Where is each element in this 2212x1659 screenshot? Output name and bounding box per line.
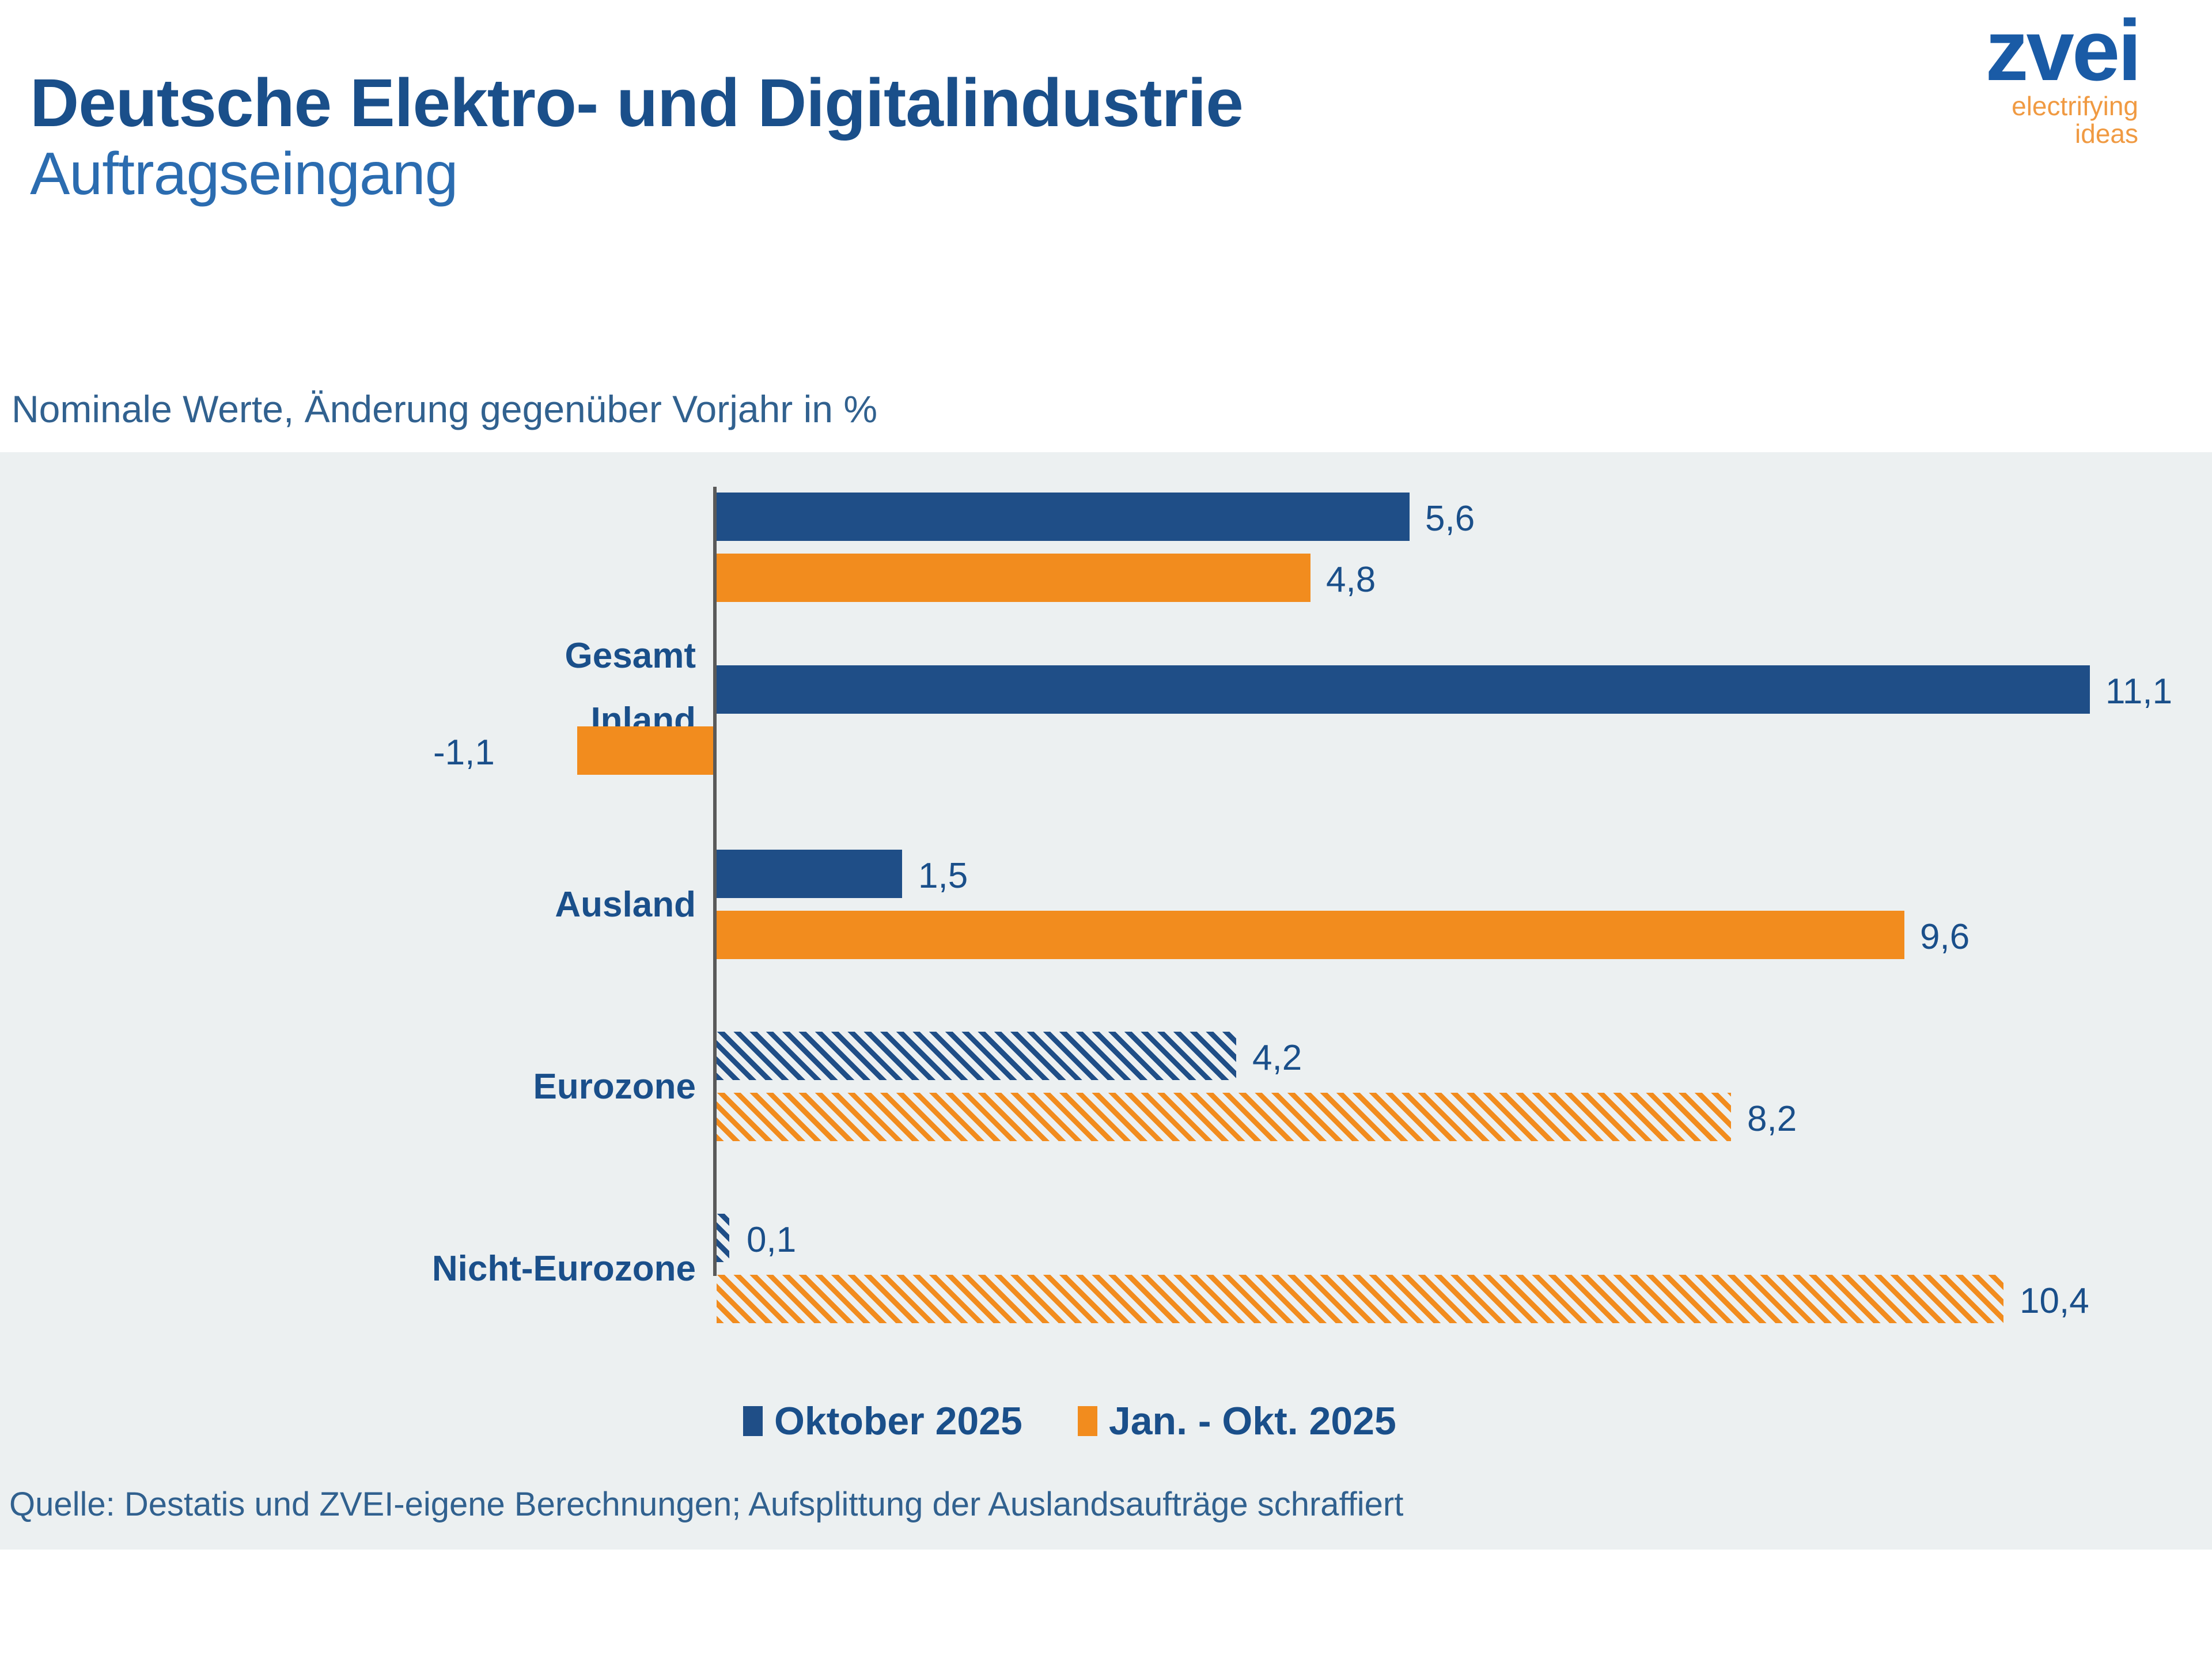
chart-panel: Gesamt 5,6 4,8 Inland 11,1 -1,1 Ausland … bbox=[0, 452, 2212, 1550]
zvei-logo: zvei electrifying ideas bbox=[1878, 10, 2143, 148]
bar-ausland-jan-okt bbox=[717, 911, 1904, 959]
bar-gesamt-oktober bbox=[717, 493, 1410, 541]
value-label-eurozone-jan-okt: 8,2 bbox=[1747, 1099, 1797, 1139]
value-label-inland-jan-okt: -1,1 bbox=[433, 732, 495, 773]
category-label-gesamt: Gesamt bbox=[565, 635, 696, 676]
logo-claim: electrifying ideas bbox=[1878, 92, 2143, 148]
bar-eurozone-oktober bbox=[717, 1032, 1236, 1080]
page-subtitle-heading: Auftragseingang bbox=[30, 141, 1243, 207]
legend-label-jan-okt: Jan. - Okt. 2025 bbox=[1109, 1399, 1396, 1444]
bar-ausland-oktober bbox=[717, 850, 902, 898]
page-title: Deutsche Elektro- und Digitalindustrie bbox=[30, 69, 1243, 137]
legend-item-jan-okt[interactable]: Jan. - Okt. 2025 bbox=[1078, 1399, 1396, 1444]
legend-label-oktober: Oktober 2025 bbox=[774, 1399, 1022, 1444]
value-label-inland-oktober: 11,1 bbox=[2105, 671, 2172, 712]
value-label-nicht-eurozone-oktober: 0,1 bbox=[747, 1219, 796, 1260]
value-label-gesamt-jan-okt: 4,8 bbox=[1326, 559, 1376, 600]
chart-legend: Oktober 2025 Jan. - Okt. 2025 bbox=[743, 1399, 1396, 1444]
value-label-ausland-jan-okt: 9,6 bbox=[1920, 916, 1969, 957]
bar-eurozone-jan-okt bbox=[717, 1093, 1731, 1141]
value-label-nicht-eurozone-jan-okt: 10,4 bbox=[2020, 1281, 2089, 1321]
bar-nicht-eurozone-jan-okt bbox=[717, 1275, 2003, 1323]
bar-inland-jan-okt bbox=[577, 726, 713, 775]
value-label-ausland-oktober: 1,5 bbox=[918, 855, 968, 896]
chart-subtitle: Nominale Werte, Änderung gegenüber Vorja… bbox=[12, 387, 877, 431]
value-label-eurozone-oktober: 4,2 bbox=[1252, 1037, 1302, 1078]
category-label-eurozone: Eurozone bbox=[533, 1066, 696, 1107]
legend-item-oktober[interactable]: Oktober 2025 bbox=[743, 1399, 1022, 1444]
logo-wordmark: zvei bbox=[1878, 10, 2143, 90]
value-label-gesamt-oktober: 5,6 bbox=[1425, 498, 1475, 539]
legend-swatch-orange-icon bbox=[1078, 1406, 1097, 1436]
category-label-ausland: Ausland bbox=[555, 884, 696, 925]
logo-claim-line2: ideas bbox=[1878, 120, 2138, 147]
page-header: Deutsche Elektro- und Digitalindustrie A… bbox=[0, 0, 2212, 449]
source-note: Quelle: Destatis und ZVEI-eigene Berechn… bbox=[9, 1485, 1403, 1524]
category-label-nicht-eurozone: Nicht-Eurozone bbox=[432, 1248, 696, 1289]
legend-swatch-blue-icon bbox=[743, 1406, 763, 1436]
title-block: Deutsche Elektro- und Digitalindustrie A… bbox=[30, 69, 1243, 207]
bar-gesamt-jan-okt bbox=[717, 554, 1310, 602]
bar-nicht-eurozone-oktober bbox=[717, 1214, 729, 1262]
bar-inland-oktober bbox=[717, 665, 2090, 714]
